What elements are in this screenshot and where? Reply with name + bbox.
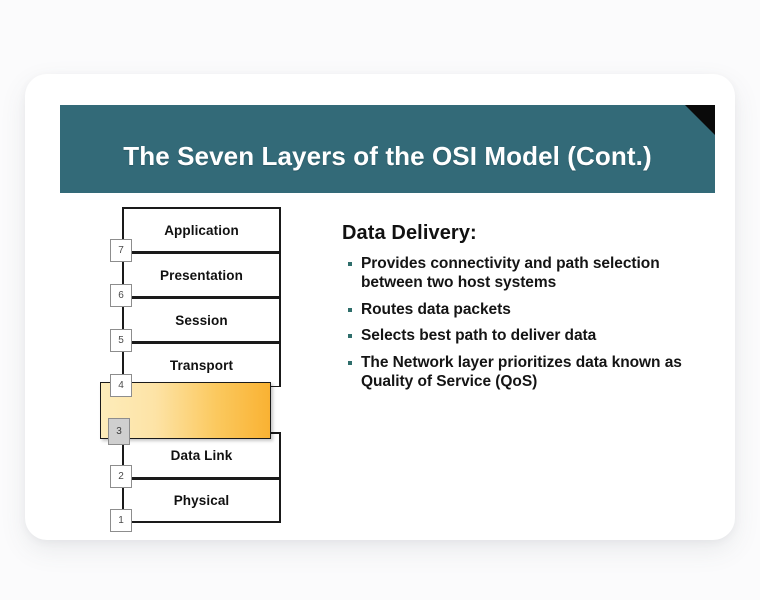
page-title: The Seven Layers of the OSI Model (Cont.… <box>60 105 715 193</box>
title-banner: The Seven Layers of the OSI Model (Cont.… <box>60 105 715 193</box>
bullet-text: Selects best path to deliver data <box>361 326 596 345</box>
osi-layer-label: Application <box>164 223 239 238</box>
content-column: Data Delivery: Provides connectivity and… <box>342 222 702 398</box>
bullet-dot-icon <box>348 262 352 266</box>
bullet-dot-icon <box>348 361 352 365</box>
bullet-text: Provides connectivity and path selection… <box>361 254 702 293</box>
bullet-dot-icon <box>348 334 352 338</box>
osi-layer-number: 1 <box>110 509 132 532</box>
bullet-item: Provides connectivity and path selection… <box>342 254 702 293</box>
bullet-text: The Network layer prioritizes data known… <box>361 353 702 392</box>
osi-layer-number: 4 <box>110 374 132 397</box>
osi-layer-label: Data Link <box>171 448 233 463</box>
slide-card: The Seven Layers of the OSI Model (Cont.… <box>25 74 735 540</box>
osi-layer-session[interactable]: Session 5 <box>122 297 281 342</box>
osi-layer-number: 2 <box>110 465 132 488</box>
osi-layer-network[interactable]: Network Network 3 <box>122 387 281 432</box>
bullet-item: The Network layer prioritizes data known… <box>342 353 702 392</box>
content-heading: Data Delivery: <box>342 222 702 245</box>
bullet-item: Routes data packets <box>342 300 702 319</box>
osi-layer-label: Transport <box>170 358 233 373</box>
osi-layer-label: Physical <box>174 493 230 508</box>
osi-layer-number: 7 <box>110 239 132 262</box>
bullet-dot-icon <box>348 308 352 312</box>
osi-layer-application[interactable]: Application 7 <box>122 207 281 252</box>
osi-layer-label: Session <box>175 313 227 328</box>
osi-layer-presentation[interactable]: Presentation 6 <box>122 252 281 297</box>
osi-layer-number: 6 <box>110 284 132 307</box>
corner-fold-icon <box>685 105 715 135</box>
bullet-item: Selects best path to deliver data <box>342 326 702 345</box>
osi-layer-stack: Application 7 Presentation 6 Session 5 T… <box>122 207 281 523</box>
osi-layer-label: Presentation <box>160 268 243 283</box>
osi-layer-number: 3 <box>108 418 130 445</box>
osi-layer-physical[interactable]: Physical 1 <box>122 478 281 523</box>
osi-layer-transport[interactable]: Transport 4 <box>122 342 281 387</box>
osi-layer-number: 5 <box>110 329 132 352</box>
bullet-text: Routes data packets <box>361 300 511 319</box>
